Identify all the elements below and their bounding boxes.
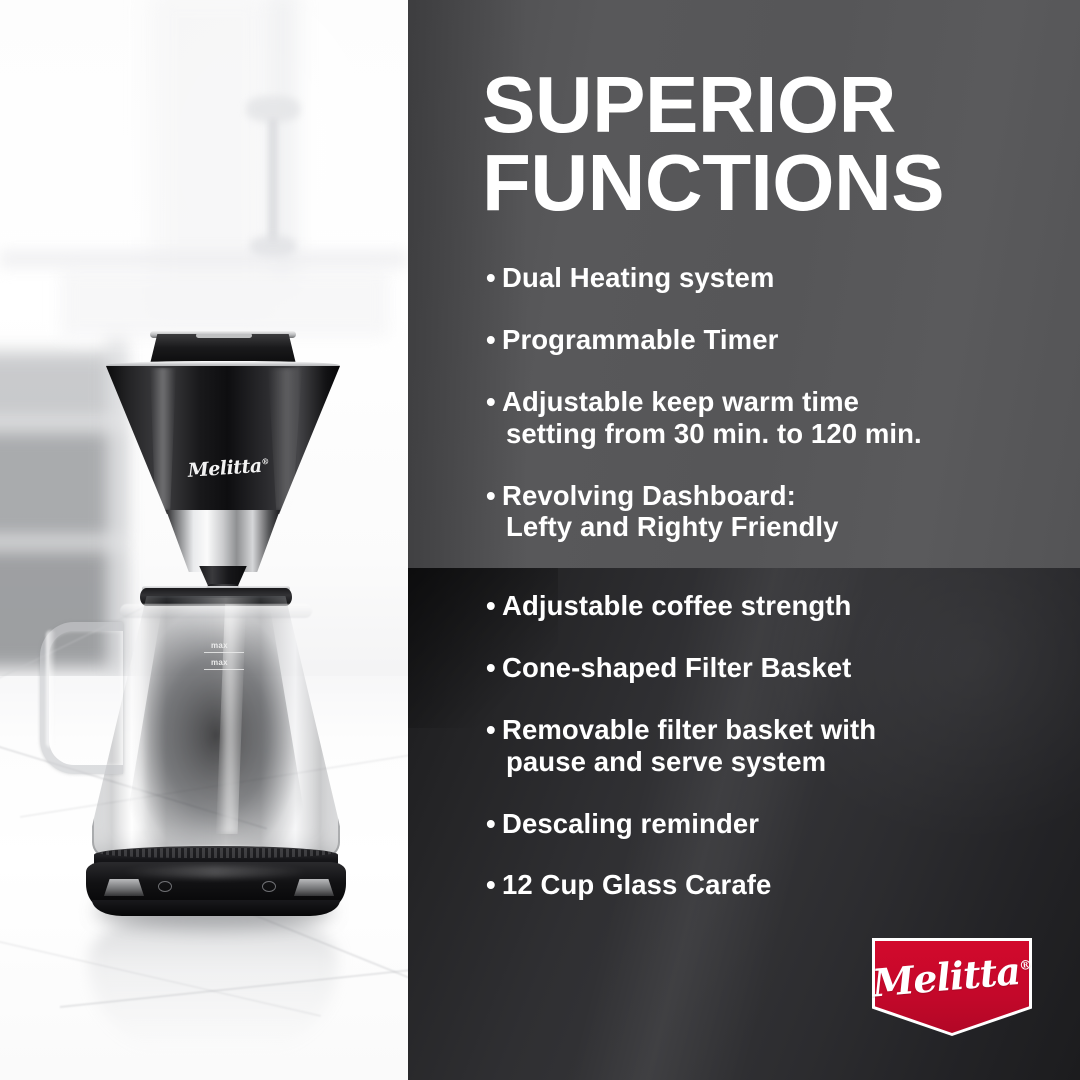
bullet-icon: •: [486, 386, 496, 418]
list-item-line-1: Removable filter basket with: [502, 714, 876, 745]
list-item-line-1: Descaling reminder: [502, 808, 759, 839]
cone-filter-housing: [106, 366, 340, 514]
list-item: • Programmable Timer: [486, 324, 1076, 356]
lid-notch: [196, 333, 252, 338]
logo-registered-icon: ®: [1019, 958, 1032, 974]
feature-list-upper: • Dual Heating system • Programmable Tim…: [486, 262, 1076, 543]
coffee-maker: Melitta® max max: [0, 0, 408, 1080]
feature-list-lower: • Adjustable coffee strength • Cone-shap…: [486, 590, 1076, 901]
product-feature-graphic: Melitta® max max: [0, 0, 1080, 1080]
chrome-collar: [166, 510, 280, 572]
list-item-line-1: Revolving Dashboard:: [502, 480, 796, 511]
bullet-icon: •: [486, 590, 496, 622]
bullet-icon: •: [486, 714, 496, 746]
list-item: • Dual Heating system: [486, 262, 1076, 294]
control-button-right[interactable]: [294, 879, 334, 896]
list-item-line-1: 12 Cup Glass Carafe: [502, 869, 771, 900]
list-item-line-1: Adjustable keep warm time: [502, 386, 859, 417]
carafe-handle-highlight: [46, 630, 56, 748]
cone-brand-registered: ®: [261, 456, 269, 466]
control-indicator-left: [158, 881, 172, 892]
warming-plate-ring: [100, 848, 332, 858]
product-photo: Melitta® max max: [0, 0, 408, 1080]
headline-line-2: FUNCTIONS: [482, 144, 1062, 222]
cone-brand-text: Melitta: [187, 455, 262, 482]
carafe-level-label-lower: max: [211, 658, 228, 667]
brand-logo: Melitta®: [872, 938, 1032, 1036]
list-item-line-1: Dual Heating system: [502, 262, 774, 293]
list-item: • Revolving Dashboard: Lefty and Righty …: [486, 480, 1076, 544]
control-indicator-right: [262, 881, 276, 892]
list-item-line-1: Cone-shaped Filter Basket: [502, 652, 851, 683]
base-foot: [92, 900, 340, 916]
list-item: • Adjustable keep warm time setting from…: [486, 386, 1076, 450]
list-item-line-1: Adjustable coffee strength: [502, 590, 851, 621]
list-item: • Descaling reminder: [486, 808, 1076, 840]
list-item-line-2: pause and serve system: [502, 746, 1076, 778]
carafe-level-line-lower: [204, 669, 244, 670]
list-item-line-2: setting from 30 min. to 120 min.: [502, 418, 1076, 450]
list-item: • 12 Cup Glass Carafe: [486, 869, 1076, 901]
list-item-line-2: Lefty and Righty Friendly: [502, 511, 1076, 543]
bullet-icon: •: [486, 808, 496, 840]
bullet-icon: •: [486, 480, 496, 512]
feature-text-panel: SUPERIOR FUNCTIONS • Dual Heating system…: [408, 0, 1080, 1080]
bullet-icon: •: [486, 652, 496, 684]
bullet-icon: •: [486, 324, 496, 356]
control-button-left[interactable]: [104, 879, 144, 896]
bullet-icon: •: [486, 262, 496, 294]
list-item-line-1: Programmable Timer: [502, 324, 778, 355]
bullet-icon: •: [486, 869, 496, 901]
headline-line-1: SUPERIOR: [482, 60, 896, 149]
page-title: SUPERIOR FUNCTIONS: [482, 66, 1062, 223]
cone-brand-logo: Melitta®: [187, 454, 273, 490]
water-tank-lid: [150, 334, 296, 364]
list-item: • Removable filter basket with pause and…: [486, 714, 1076, 778]
base-highlight: [120, 866, 310, 878]
carafe-level-label-upper: max: [211, 641, 228, 650]
list-item: • Cone-shaped Filter Basket: [486, 652, 1076, 684]
list-item: • Adjustable coffee strength: [486, 590, 1076, 622]
carafe-level-line-upper: [204, 652, 244, 653]
